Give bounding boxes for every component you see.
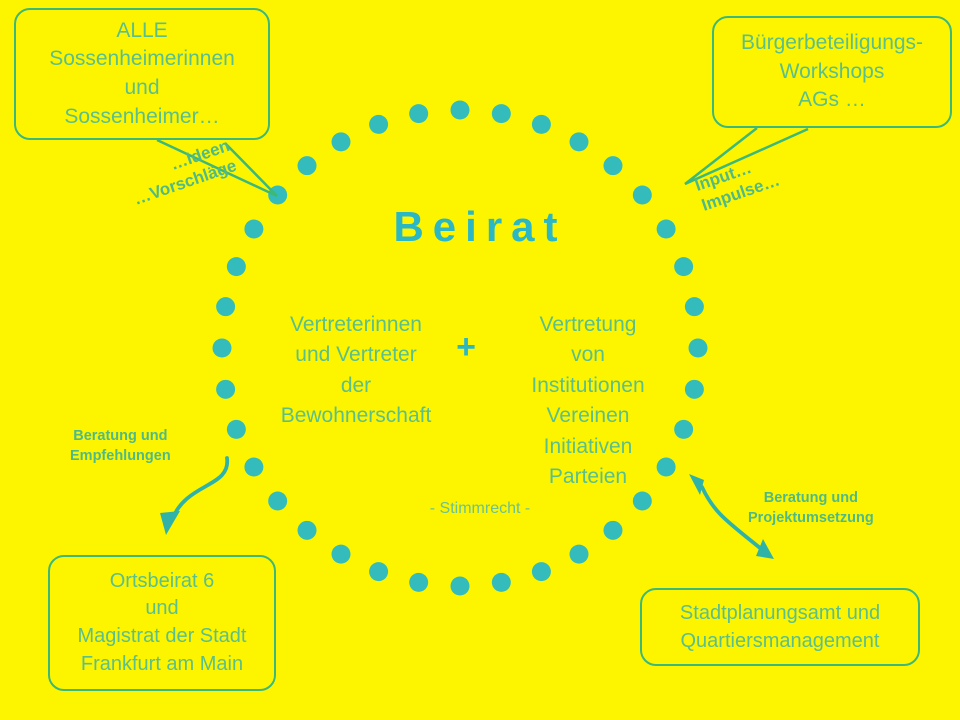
- ring-dot: [570, 132, 589, 151]
- callout-line: Workshops: [780, 58, 885, 87]
- box-line: Stadtplanungsamt und: [680, 599, 880, 627]
- ring-dot: [216, 380, 235, 399]
- ring-dot: [227, 420, 246, 439]
- callout-line: Bürgerbeteiligungs-: [741, 29, 923, 58]
- ring-dot: [685, 380, 704, 399]
- ring-dot: [298, 156, 317, 175]
- box-line: Ortsbeirat 6: [110, 568, 214, 596]
- callout-box-workshops: Bürgerbeteiligungs- Workshops AGs …: [712, 16, 952, 128]
- callout-line: AGs …: [798, 86, 866, 115]
- members-residents-column: Vertreterinnen und Vertreter der Bewohne…: [268, 310, 444, 432]
- ring-dot: [570, 545, 589, 564]
- column-line: Bewohnerschaft: [268, 401, 444, 431]
- ring-dot: [332, 545, 351, 564]
- ring-dot: [213, 339, 232, 358]
- ring-dot: [244, 458, 263, 477]
- column-line: der: [268, 371, 444, 401]
- ring-dot: [451, 577, 470, 596]
- column-line: Vertreterinnen: [268, 310, 444, 340]
- ring-dot: [633, 186, 652, 205]
- column-line: Vertretung: [500, 310, 676, 340]
- annotation-line: Beratung und: [748, 489, 874, 509]
- ring-dot: [603, 156, 622, 175]
- column-line: und Vertreter: [268, 340, 444, 370]
- page-title: Beirat: [0, 203, 960, 251]
- annotation-line: Beratung und: [70, 427, 171, 447]
- ring-dot: [369, 115, 388, 134]
- ring-dot: [451, 101, 470, 120]
- annotation-ideen-vorschlaege: …Ideen …Vorschläge: [124, 135, 239, 210]
- ring-dot: [332, 132, 351, 151]
- ring-dot: [689, 339, 708, 358]
- callout-box-citizens: ALLE Sossenheimerinnen und Sossenheimer…: [14, 8, 270, 140]
- plus-separator: +: [448, 330, 484, 364]
- ring-dot: [227, 257, 246, 276]
- ring-dot: [674, 257, 693, 276]
- annotation-line: Empfehlungen: [70, 447, 171, 467]
- ring-dot: [492, 104, 511, 123]
- ring-dot: [532, 562, 551, 581]
- box-stadtplanungsamt-quartiersmanagement: Stadtplanungsamt und Quartiersmanagement: [640, 588, 920, 666]
- column-line: Vereinen: [500, 401, 676, 431]
- ring-dot: [532, 115, 551, 134]
- callout-line: und: [124, 74, 159, 103]
- box-line: Magistrat der Stadt: [78, 623, 247, 651]
- column-line: Parteien: [500, 462, 676, 492]
- box-line: Frankfurt am Main: [81, 651, 243, 679]
- callout-line: ALLE: [116, 17, 167, 46]
- ring-dot: [298, 521, 317, 540]
- ring-dot: [603, 521, 622, 540]
- ring-dot: [492, 573, 511, 592]
- ring-dot: [674, 420, 693, 439]
- box-line: und: [145, 595, 178, 623]
- ring-dot: [409, 573, 428, 592]
- annotation-beratung-projektumsetzung: Beratung und Projektumsetzung: [748, 489, 874, 528]
- arrow-head-down-projektumsetzung: [756, 539, 774, 559]
- members-institutions-column: Vertretung von Institutionen Vereinen In…: [500, 310, 676, 493]
- ring-dot: [685, 297, 704, 316]
- ring-dot: [409, 104, 428, 123]
- callout-line: Sossenheimerinnen: [49, 45, 235, 74]
- column-line: Institutionen: [500, 371, 676, 401]
- callout-line: Sossenheimer…: [64, 103, 219, 132]
- box-ortsbeirat-magistrat: Ortsbeirat 6 und Magistrat der Stadt Fra…: [48, 555, 276, 691]
- box-line: Quartiersmanagement: [681, 627, 880, 655]
- ring-dot: [216, 297, 235, 316]
- diagram-canvas: Beirat + Vertreterinnen und Vertreter de…: [0, 0, 960, 720]
- annotation-beratung-empfehlungen: Beratung und Empfehlungen: [70, 427, 171, 466]
- column-line: von: [500, 340, 676, 370]
- ring-dot: [268, 186, 287, 205]
- column-line: Initiativen: [500, 432, 676, 462]
- ring-dot: [369, 562, 388, 581]
- annotation-line: Projektumsetzung: [748, 509, 874, 529]
- arrow-head-up-projektumsetzung: [689, 474, 704, 495]
